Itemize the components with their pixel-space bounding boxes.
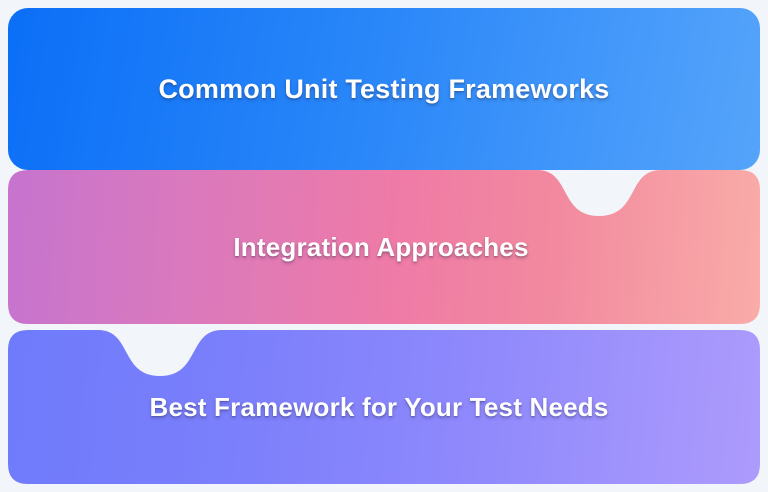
panel-blue-label: Common Unit Testing Frameworks bbox=[144, 74, 623, 105]
slide-canvas: Common Unit Testing Frameworks Integrati… bbox=[0, 0, 768, 492]
panel-pink-label: Integration Approaches bbox=[219, 232, 542, 263]
panel-integration-approaches[interactable]: Integration Approaches bbox=[8, 170, 760, 324]
panel-common-unit-testing-frameworks[interactable]: Common Unit Testing Frameworks bbox=[8, 8, 760, 170]
panel-best-framework-for-your-test-needs[interactable]: Best Framework for Your Test Needs bbox=[8, 330, 760, 484]
panel-purple-label: Best Framework for Your Test Needs bbox=[135, 392, 622, 423]
